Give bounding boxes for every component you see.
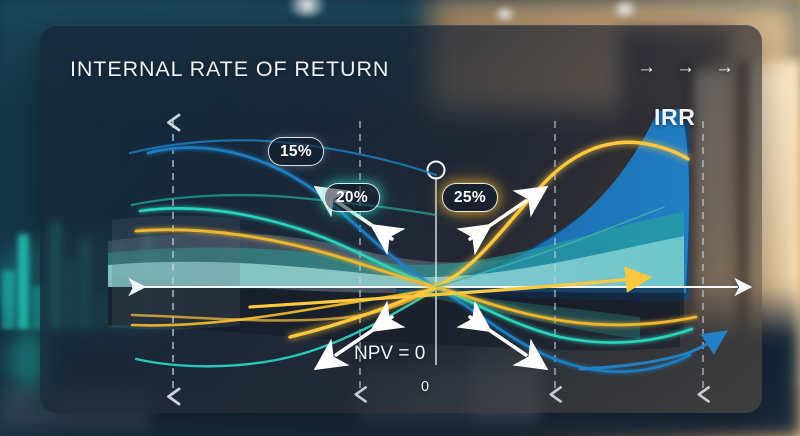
irr-npv-chart: 15% 20% 25% NPV = 0 0 IRR: [40, 25, 762, 413]
rate-pill-20[interactable]: 20%: [324, 183, 380, 212]
npv-curve-teal-upper-left: [132, 195, 436, 215]
rate-pill-15[interactable]: 15%: [268, 137, 324, 166]
screenshot-stage: INTERNAL RATE OF RETURN → → →: [0, 0, 800, 436]
irr-area-label: IRR: [654, 104, 695, 131]
irr-glass-card: INTERNAL RATE OF RETURN → → →: [40, 25, 762, 413]
rate-pill-25[interactable]: 25%: [442, 183, 498, 212]
npv-zero-label: NPV = 0: [354, 343, 425, 365]
background-ceiling-light-3: [610, 2, 640, 17]
axis-origin-label: 0: [421, 379, 429, 395]
background-ceiling-light-2: [492, 8, 518, 21]
